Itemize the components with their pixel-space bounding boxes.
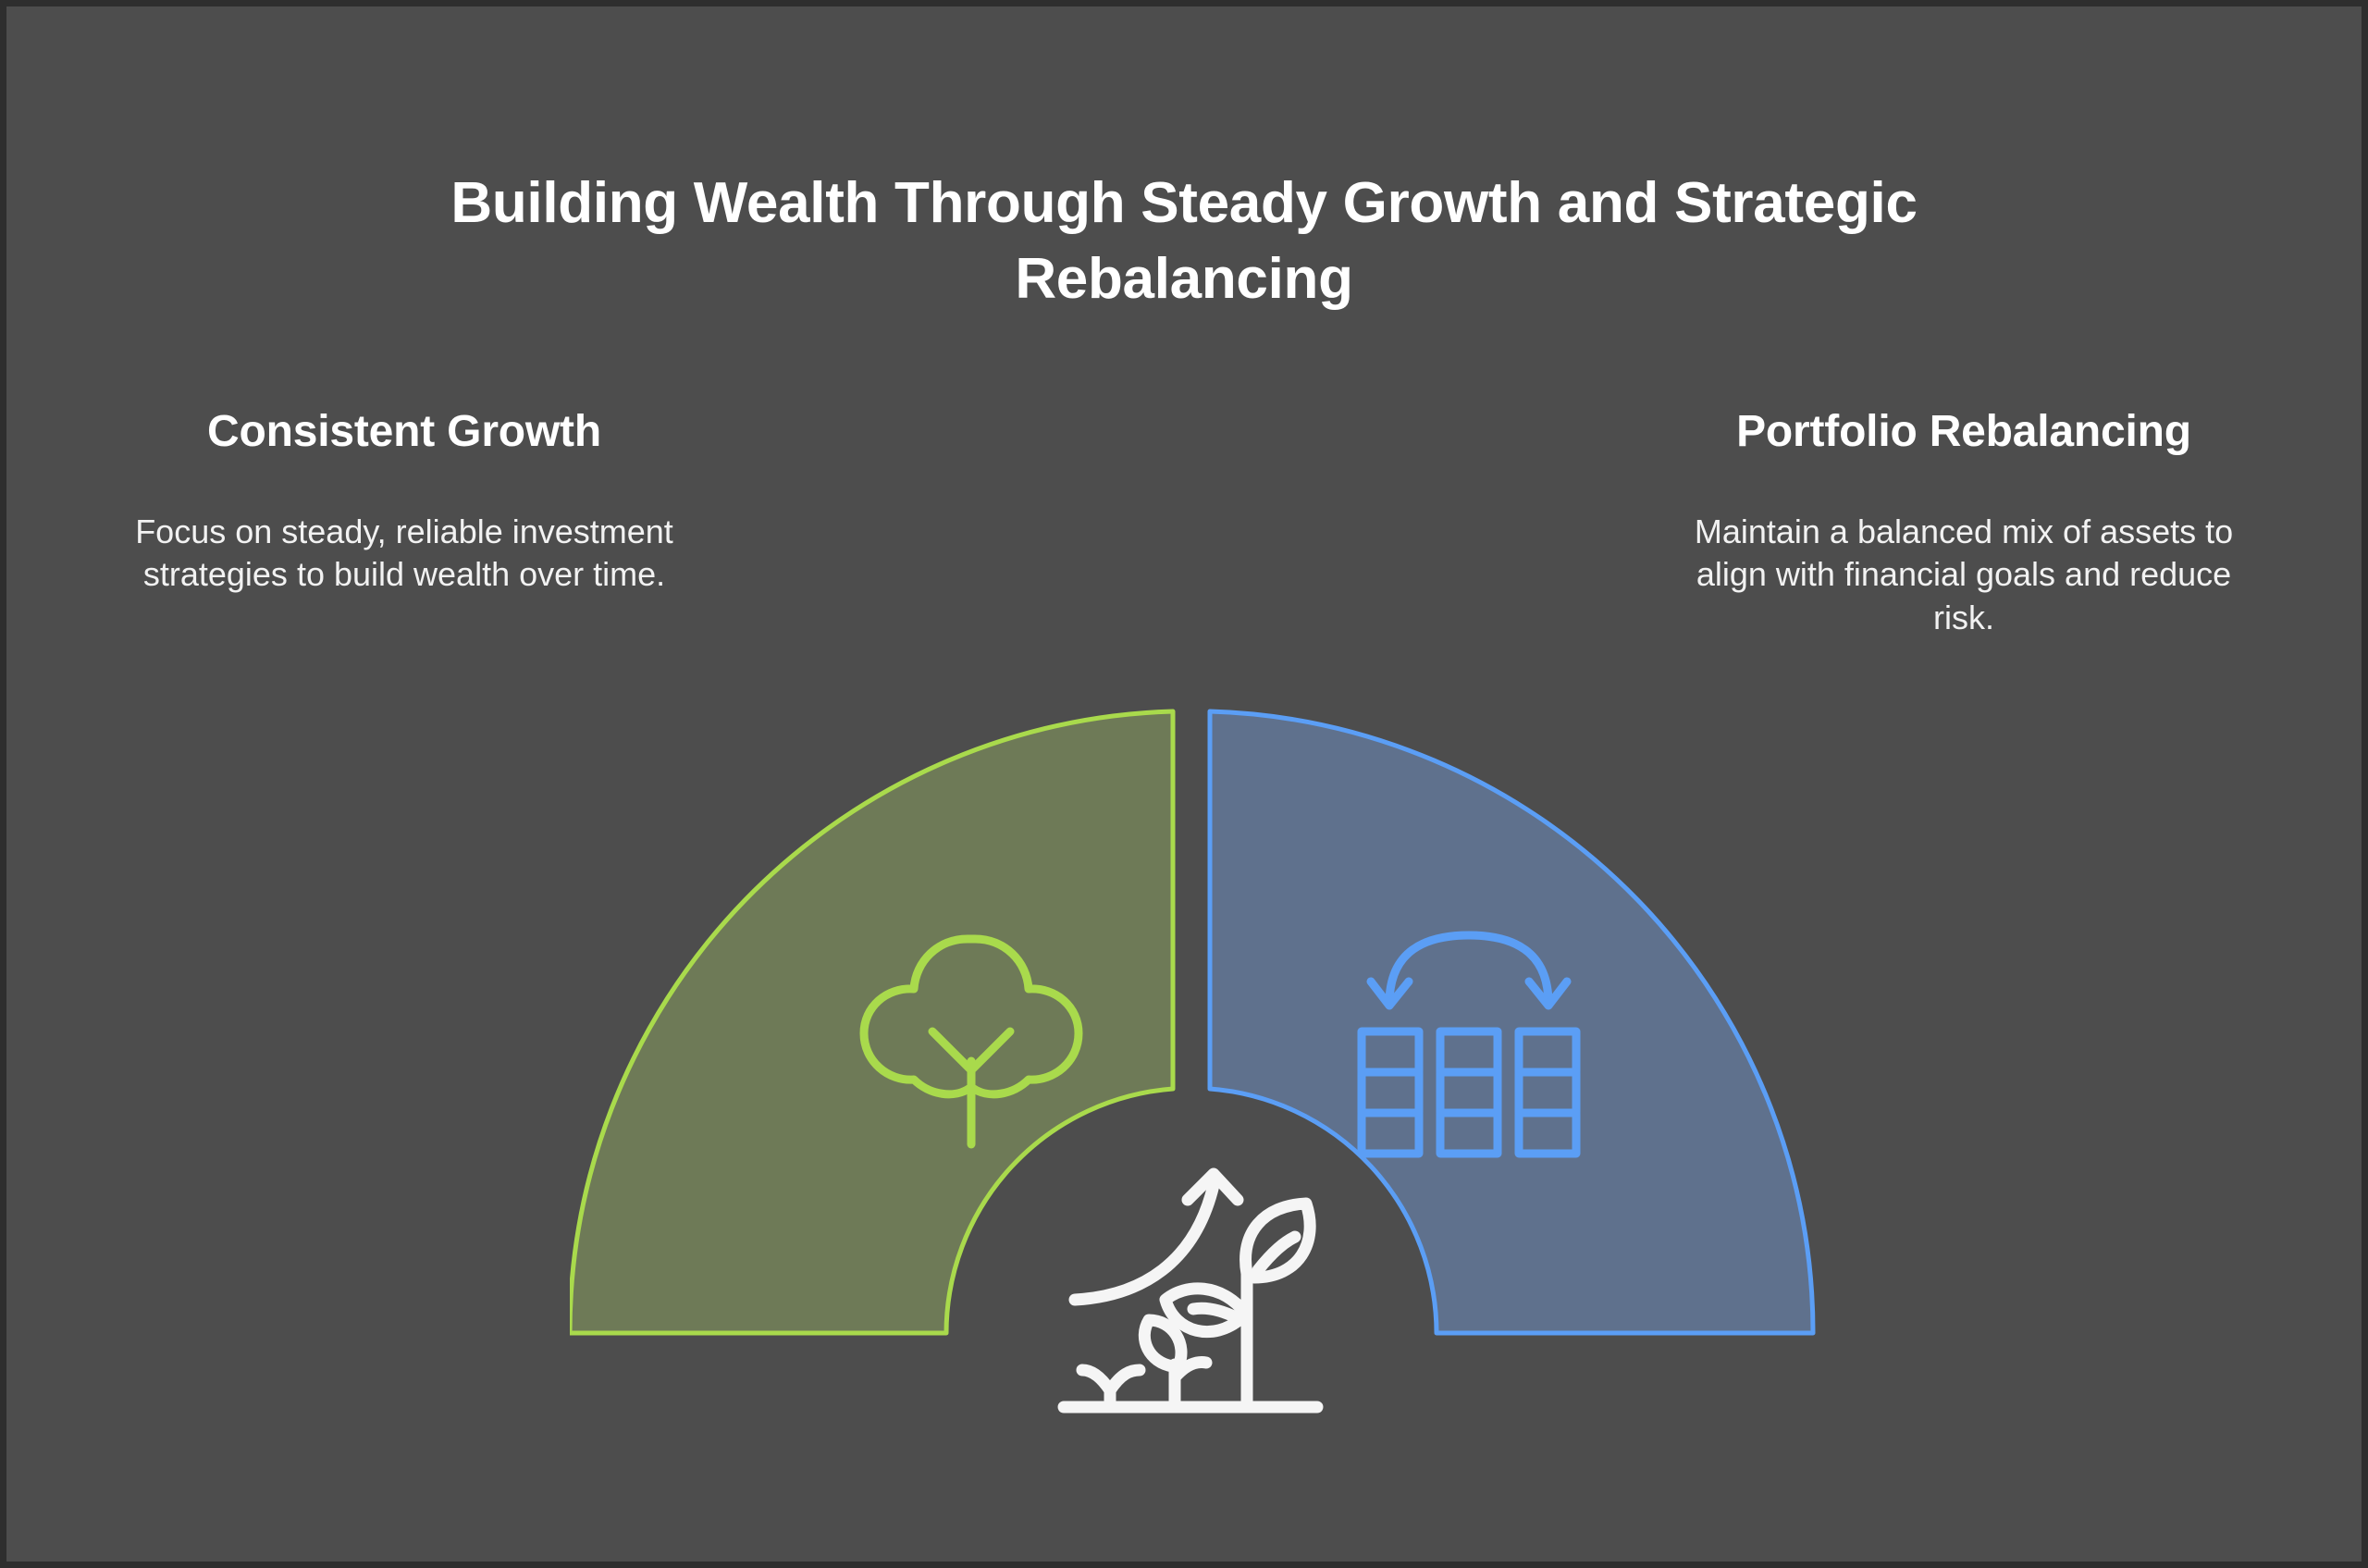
right-panel-heading: Portfolio Rebalancing [1668, 406, 2260, 459]
left-panel-heading: Consistent Growth [108, 406, 700, 459]
slide-canvas: Building Wealth Through Steady Growth an… [0, 0, 2368, 1568]
left-panel-text: Consistent Growth Focus on steady, relia… [108, 406, 700, 597]
page-title: Building Wealth Through Steady Growth an… [305, 166, 2063, 318]
plant-growth-arrow-icon [1056, 1154, 1325, 1431]
left-panel-body: Focus on steady, reliable investment str… [108, 511, 700, 598]
right-panel-text: Portfolio Rebalancing Maintain a balance… [1668, 406, 2260, 640]
right-panel-body: Maintain a balanced mix of assets to ali… [1668, 511, 2260, 640]
